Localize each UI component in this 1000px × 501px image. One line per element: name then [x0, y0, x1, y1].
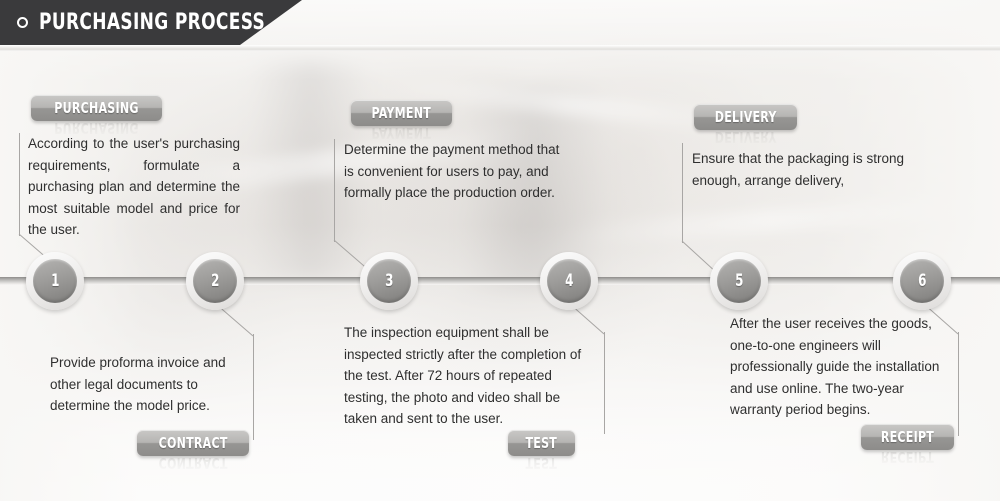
purchasing-process-infographic: PURCHASING PROCESS PURCHASING PURCHASING…: [0, 0, 1000, 501]
step-connector-line-4: [604, 332, 605, 434]
timeline-node-4[interactable]: 4: [540, 252, 598, 310]
step-text-3: Determine the payment method that is con…: [344, 139, 564, 204]
step-connector-line-6: [958, 332, 959, 436]
node-disc: 2: [193, 259, 237, 303]
header-content: PURCHASING PROCESS: [0, 0, 302, 45]
step-connector-line-1: [19, 133, 20, 236]
node-disc: 5: [717, 259, 761, 303]
timeline-bar: [0, 277, 1000, 285]
step-text-4: The inspection equipment shall be inspec…: [344, 322, 596, 430]
step-text-2: Provide proforma invoice and other legal…: [50, 352, 250, 417]
step-badge-contract[interactable]: CONTRACT CONTRACT: [137, 430, 249, 456]
page-title: PURCHASING PROCESS: [39, 10, 265, 35]
step-badge-receipt[interactable]: RECEIPT RECEIPT: [861, 424, 954, 450]
step-text-6: After the user receives the goods, one-t…: [730, 313, 952, 421]
node-disc: 1: [33, 259, 77, 303]
step-text-5: Ensure that the packaging is strong enou…: [692, 148, 904, 191]
step-connector-line-2: [253, 334, 254, 440]
step-badge-delivery[interactable]: DELIVERY DELIVERY: [694, 104, 797, 130]
node-disc: 4: [547, 259, 591, 303]
circle-outline-icon: [17, 17, 28, 28]
step-badge-purchasing[interactable]: PURCHASING PURCHASING: [31, 95, 162, 121]
step-badge-test[interactable]: TEST TEST: [508, 430, 575, 456]
node-disc: 6: [900, 259, 944, 303]
timeline-node-6[interactable]: 6: [893, 252, 951, 310]
step-connector-line-3: [334, 139, 335, 242]
timeline-node-3[interactable]: 3: [360, 252, 418, 310]
timeline-node-1[interactable]: 1: [26, 252, 84, 310]
step-badge-payment[interactable]: PAYMENT PAYMENT: [351, 100, 452, 126]
header-divider: [0, 45, 1000, 51]
timeline-node-5[interactable]: 5: [710, 252, 768, 310]
timeline-node-2[interactable]: 2: [186, 252, 244, 310]
step-text-1: According to the user's purchasing requi…: [28, 133, 240, 241]
step-connector-line-5: [682, 143, 683, 243]
node-disc: 3: [367, 259, 411, 303]
